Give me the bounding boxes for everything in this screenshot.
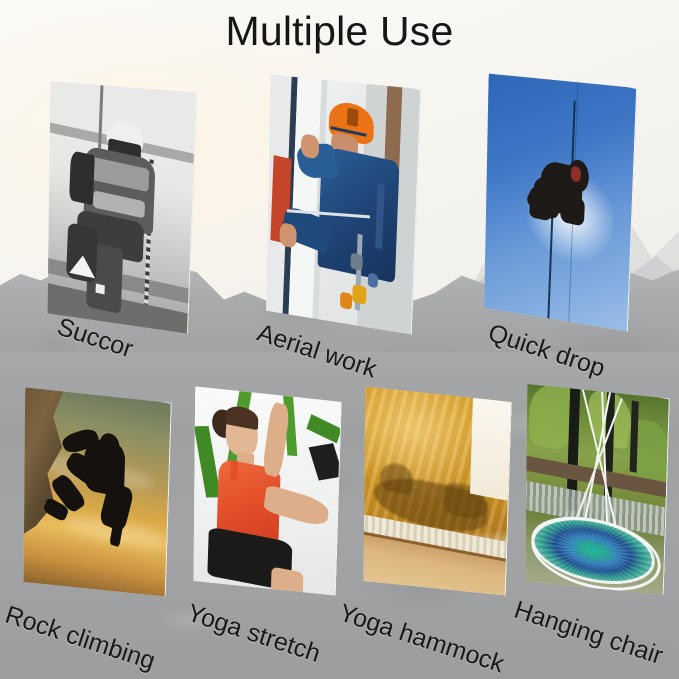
product-infographic: Multiple Use — [0, 0, 679, 679]
panel-yoga-hammock — [359, 374, 512, 608]
panel-succor — [42, 61, 198, 343]
photo-aerial-work — [262, 58, 421, 342]
panel-yoga-stretch — [189, 374, 342, 608]
photo-rock-climbing — [19, 376, 171, 609]
page-title: Multiple Use — [0, 8, 679, 55]
panel-rock-climbing — [19, 375, 172, 609]
photo-quick-drop — [480, 57, 636, 339]
panel-quick-drop — [480, 56, 638, 339]
panel-aerial-work — [262, 57, 422, 342]
photo-yoga-hammock — [359, 375, 511, 608]
panel-hanging-chair — [521, 371, 670, 607]
photo-yoga-stretch — [189, 375, 341, 608]
photo-hanging-chair — [521, 372, 669, 607]
photo-succor — [42, 62, 197, 343]
